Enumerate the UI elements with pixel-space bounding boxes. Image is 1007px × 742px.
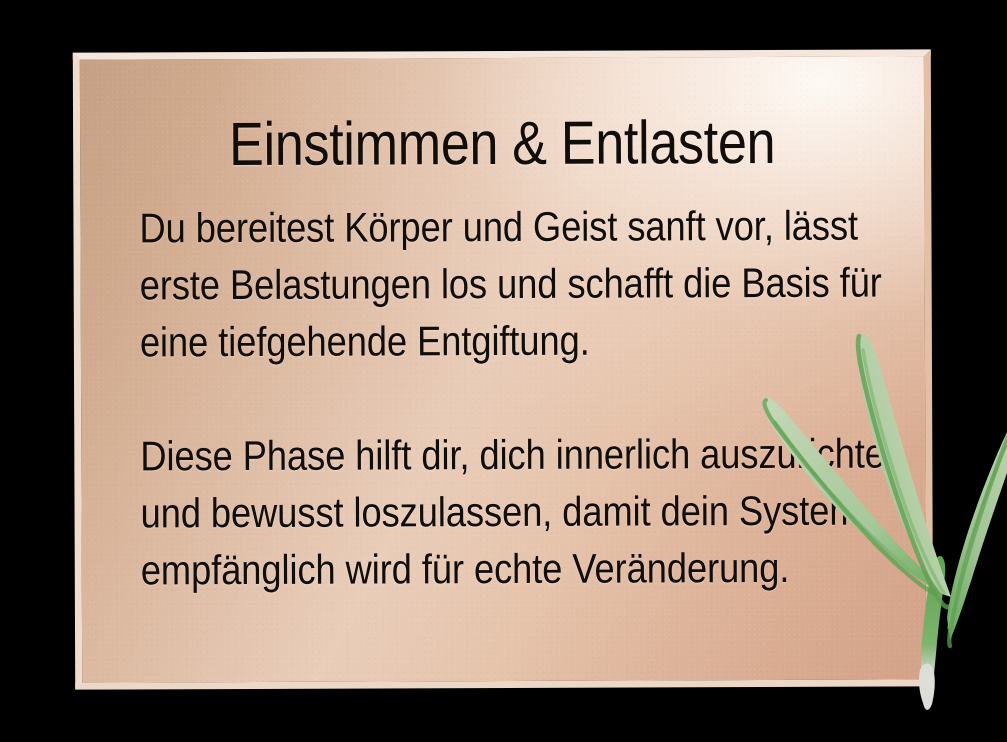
- card-body: Du bereitest Körper und Geist sanft vor,…: [139, 196, 931, 598]
- sprig-leaf-right: [947, 411, 1007, 646]
- card-paragraph-1: Du bereitest Körper und Geist sanft vor,…: [139, 196, 929, 370]
- card-paragraph-2: Diese Phase hilft dir, dich innerlich au…: [140, 424, 930, 598]
- card-title: Einstimmen & Entlasten: [141, 112, 863, 176]
- phase-info-card: Einstimmen & Entlasten Du bereitest Körp…: [73, 49, 933, 689]
- screenshot-canvas: Einstimmen & Entlasten Du bereitest Körp…: [0, 0, 1007, 742]
- card-content: Einstimmen & Entlasten Du bereitest Körp…: [80, 56, 926, 682]
